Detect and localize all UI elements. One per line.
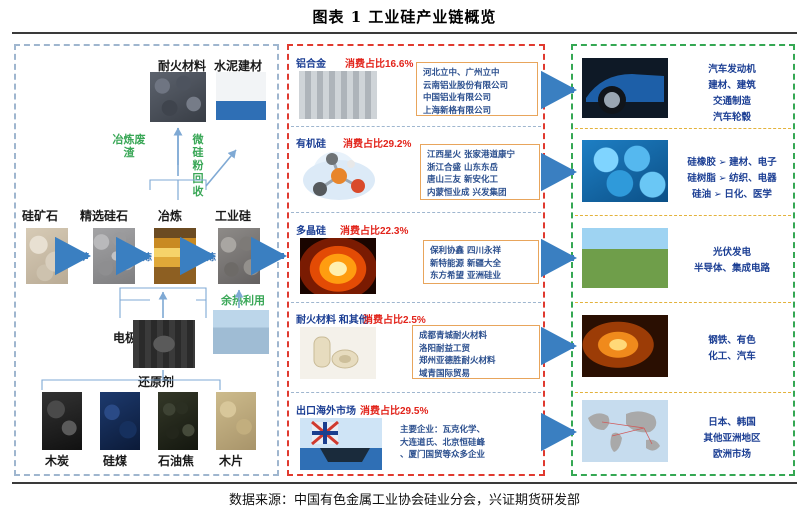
company-line: 河北立中、广州立中 — [423, 67, 531, 80]
silicon-coal-photo — [100, 392, 140, 450]
petroleum-coke-photo — [158, 392, 198, 450]
company-line: 江西星火 张家港道康宁 — [427, 149, 533, 162]
title-divider-bottom — [12, 482, 797, 484]
mid-company-box-1: 江西星火 张家港道康宁 浙江合盛 山东东岳 唐山三友 新安化工 内蒙恒业成 兴发… — [420, 144, 540, 200]
molecule-icon — [299, 150, 379, 204]
reductant-item-label-2: 石油焦 — [158, 452, 194, 469]
electrode-photo — [133, 320, 195, 368]
company-line: 上海新格有限公司 — [423, 105, 531, 118]
mid-row-pct-2: 消费占比22.3% — [340, 222, 408, 237]
enduse-line: 日本、韩国 — [676, 415, 788, 431]
mid-row-pct-1: 消费占比29.2% — [343, 135, 411, 150]
company-line: 东方希望 亚洲硅业 — [430, 270, 532, 283]
mid-company-box-2: 保利协鑫 四川永祥 新特能源 新疆大全 东方希望 亚洲硅业 — [423, 240, 539, 284]
company-line: 洛阳耐益工贸 — [419, 343, 533, 356]
enduse-line: 硅油 ➢ 日化、医学 — [672, 187, 792, 203]
enduse-line: 化工、汽车 — [676, 349, 788, 365]
enduse-line: 欧洲市场 — [676, 447, 788, 463]
mid-row-name-1: 有机硅 — [296, 135, 326, 150]
enduse-text-0: 汽车发动机 建材、建筑 交通制造 汽车轮毂 — [676, 62, 788, 126]
world-map-photo — [582, 400, 668, 462]
enduse-line: 硅橡胶 ➢ 建材、电子 — [672, 155, 792, 171]
mid-row-divider — [291, 126, 541, 127]
company-line: 大连道氏、北京恒硅峰 — [400, 437, 534, 450]
polysilicon-furnace-photo — [300, 238, 376, 294]
silica-ore-photo — [26, 228, 68, 284]
flow-arrow-label-0: 选矿 — [71, 250, 89, 263]
ship-flag-icon — [300, 418, 382, 470]
mid-row-pct-3: 消费占比2.5% — [363, 311, 426, 326]
mid-row-divider — [291, 302, 541, 303]
industrial-silicon-photo — [218, 228, 260, 284]
smelting-furnace-photo — [154, 228, 196, 284]
company-line: 域青国际贸易 — [419, 368, 533, 381]
mid-row-name-3: 耐火材料 和其他 — [296, 311, 369, 326]
page-title: 图表 1 工业硅产业链概览 — [313, 8, 497, 26]
company-line: 主要企业：瓦克化学、 — [400, 424, 534, 437]
mid-company-box-0: 河北立中、广州立中 云南铝业股份有限公司 中国铝业有限公司 上海新格有限公司 — [416, 62, 538, 116]
reductant-item-label-3: 木片 — [219, 452, 243, 469]
mid-row-divider — [291, 212, 541, 213]
enduse-divider — [575, 215, 791, 216]
electrode-label: 电极 — [113, 332, 127, 345]
heat-recovery-label: 余热利用 — [208, 295, 278, 308]
reductant-label: 还原剂 — [138, 373, 174, 390]
mid-row-name-0: 铝合金 — [296, 55, 326, 70]
route-label-slag: 冶炼废渣 — [112, 134, 146, 160]
enduse-line: 半导体、集成电路 — [676, 261, 788, 277]
company-line: 郑州亚德胜耐火材料 — [419, 355, 533, 368]
solar-panel-photo — [582, 228, 668, 288]
enduse-divider — [575, 302, 791, 303]
route-label-microsilica: 微硅粉回收 — [190, 134, 206, 199]
aluminium-alloy-photo — [299, 71, 377, 119]
steel-furnace-photo — [582, 315, 668, 377]
mid-company-box-4: 主要企业：瓦克化学、 大连道氏、北京恒硅峰 、厦门国贸等众多企业 — [394, 420, 540, 466]
company-line: 浙江合盛 山东东岳 — [427, 162, 533, 175]
world-map-icon — [582, 400, 668, 462]
company-line: 、厦门国贸等众多企业 — [400, 449, 534, 462]
mid-row-pct-0: 消费占比16.6% — [345, 55, 413, 70]
company-line: 中国铝业有限公司 — [423, 92, 531, 105]
enduse-text-4: 日本、韩国 其他亚洲地区 欧洲市场 — [676, 415, 788, 463]
enduse-line: 交通制造 — [676, 94, 788, 110]
enduse-line: 光伏发电 — [676, 245, 788, 261]
enduse-line: 其他亚洲地区 — [676, 431, 788, 447]
slag-photo — [150, 72, 206, 122]
enduse-text-1: 硅橡胶 ➢ 建材、电子 硅树脂 ➢ 纺织、电器 硅油 ➢ 日化、医学 — [672, 155, 792, 203]
flow-arrow-label-2: 精炼 — [198, 250, 216, 263]
enduse-line: 硅树脂 ➢ 纺织、电器 — [672, 171, 792, 187]
flow-label-2: 冶炼 — [158, 207, 182, 224]
silicone-bubbles-photo — [582, 140, 668, 202]
charcoal-photo — [42, 392, 82, 450]
enduse-line: 钢铁、有色 — [676, 333, 788, 349]
chart-page: 图表 1 工业硅产业链概览 数据来源：中国有色金属工业协会硅业分会，兴证期货研发… — [0, 0, 809, 516]
company-line: 保利协鑫 四川永祥 — [430, 245, 532, 258]
car-wheel-photo — [582, 58, 668, 118]
flow-arrow-label-1: 粗炼 — [134, 250, 152, 263]
car-icon — [582, 58, 668, 118]
wood-chips-photo — [216, 392, 256, 450]
enduse-divider — [575, 128, 791, 129]
mid-row-pct-4: 消费占比29.5% — [360, 402, 428, 417]
flow-label-3: 工业硅 — [215, 207, 251, 224]
company-line: 云南铝业股份有限公司 — [423, 80, 531, 93]
enduse-line: 汽车轮毂 — [676, 110, 788, 126]
enduse-text-3: 钢铁、有色 化工、汽车 — [676, 333, 788, 365]
company-line: 新特能源 新疆大全 — [430, 258, 532, 271]
title-divider-top — [12, 32, 797, 34]
ceramic-tubes-icon — [300, 327, 376, 379]
enduse-text-2: 光伏发电 半导体、集成电路 — [676, 245, 788, 277]
enduse-divider — [575, 392, 791, 393]
cement-bags-photo — [216, 72, 266, 120]
flow-label-0: 硅矿石 — [22, 207, 58, 224]
waste-heat-equipment-photo — [213, 310, 269, 354]
refractory-ceramic-photo — [300, 327, 376, 379]
selected-silica-photo — [93, 228, 135, 284]
page-title-wrap: 图表 1 工业硅产业链概览 — [0, 6, 809, 27]
company-line: 唐山三友 新安化工 — [427, 174, 533, 187]
organosilicon-molecule-photo — [299, 150, 379, 204]
mid-row-divider — [291, 392, 541, 393]
flow-label-1: 精选硅石 — [80, 207, 128, 224]
company-line: 成都青城耐火材料 — [419, 330, 533, 343]
mid-row-name-4: 出口海外市场 — [296, 402, 356, 417]
reductant-item-label-1: 硅煤 — [103, 452, 127, 469]
company-line: 内蒙恒业成 兴发集团 — [427, 187, 533, 200]
enduse-line: 建材、建筑 — [676, 78, 788, 94]
mid-row-name-2: 多晶硅 — [296, 222, 326, 237]
mid-company-box-3: 成都青城耐火材料 洛阳耐益工贸 郑州亚德胜耐火材料 域青国际贸易 — [412, 325, 540, 379]
export-ship-flag-photo — [300, 418, 382, 470]
source-footer: 数据来源：中国有色金属工业协会硅业分会，兴证期货研发部 — [0, 489, 809, 508]
enduse-line: 汽车发动机 — [676, 62, 788, 78]
reductant-item-label-0: 木炭 — [45, 452, 69, 469]
